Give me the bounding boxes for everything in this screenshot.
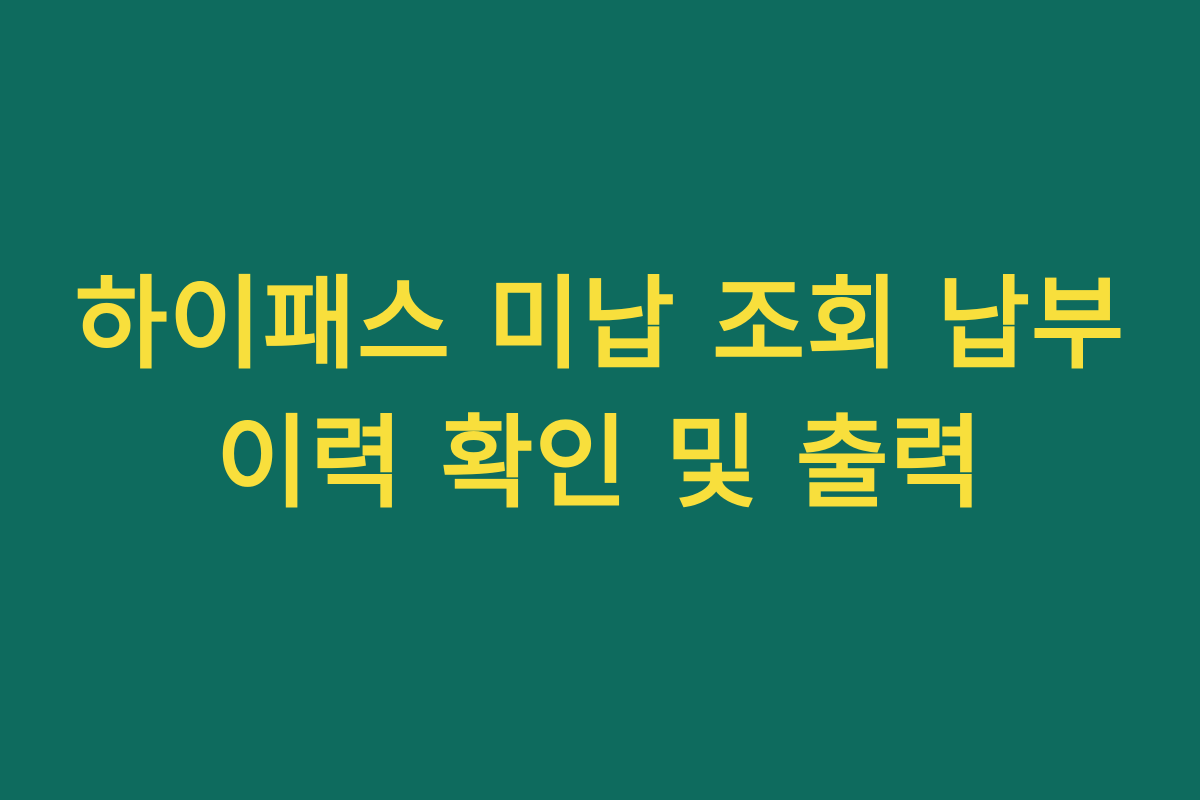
headline-block: 하이패스 미납 조회 납부 이력 확인 및 출력: [0, 255, 1200, 534]
title-banner: 하이패스 미납 조회 납부 이력 확인 및 출력: [0, 0, 1200, 800]
headline-line-2: 이력 확인 및 출력: [0, 394, 1200, 533]
headline-line-1: 하이패스 미납 조회 납부: [0, 255, 1200, 394]
